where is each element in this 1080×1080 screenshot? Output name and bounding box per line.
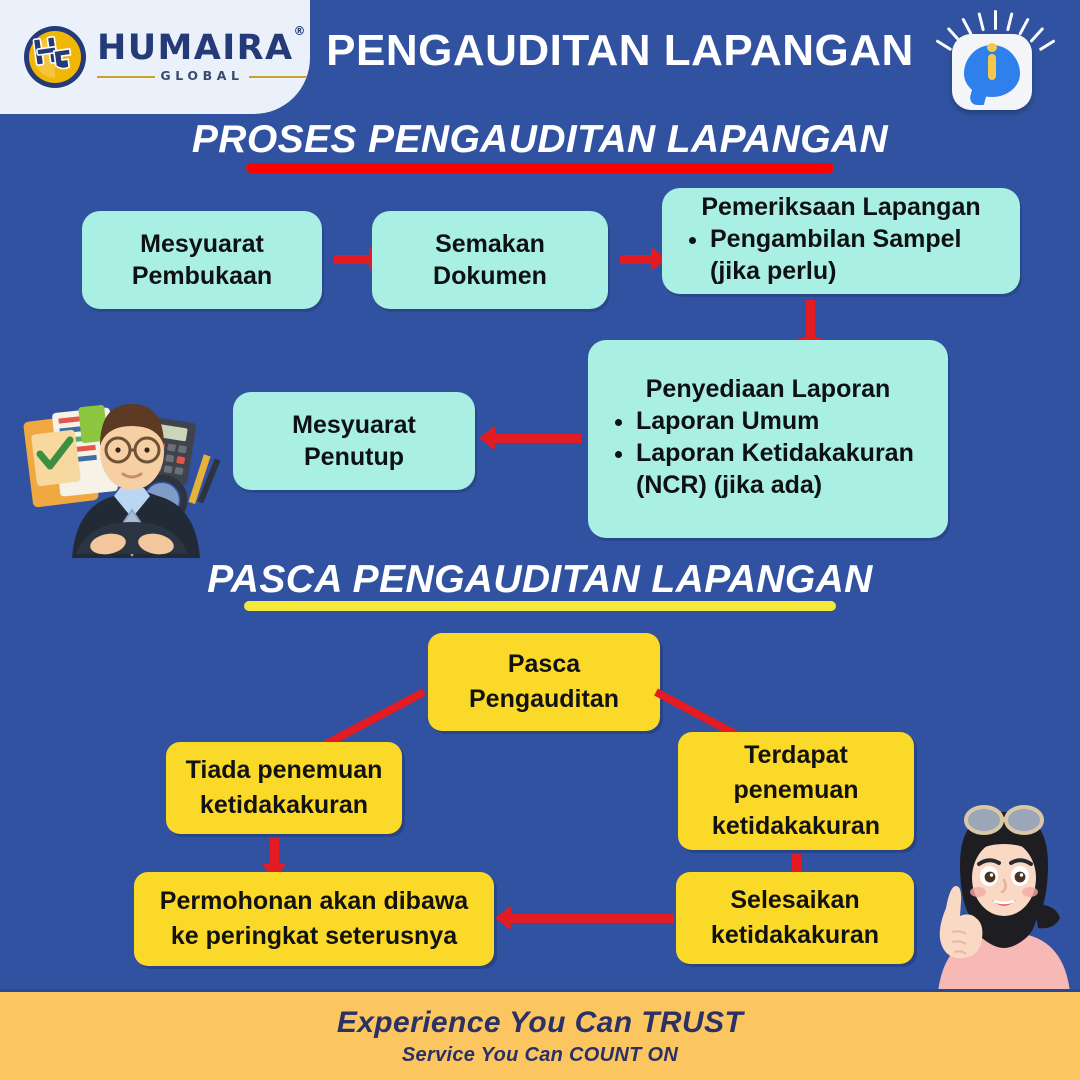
- box-bullet: Laporan Umum: [636, 405, 934, 437]
- flow-box-mesyuarat-pembukaan[interactable]: Mesyuarat Pembukaan: [82, 211, 322, 309]
- brand-wordmark: HUMAIRA® GLOBAL: [97, 31, 307, 83]
- box-line: Selesaikan: [688, 883, 902, 919]
- section-rule-pasca: [244, 601, 836, 611]
- page-title: PENGAUDITAN LAPANGAN: [320, 26, 920, 76]
- box-line: ketidakakuran: [688, 918, 902, 954]
- section-heading-pasca: PASCA PENGAUDITAN LAPANGAN: [0, 558, 1080, 602]
- footer-tagline-primary: Experience You Can TRUST: [337, 1006, 743, 1040]
- box-line: Mesyuarat: [247, 409, 461, 441]
- logo-rule-left: [97, 76, 155, 78]
- hg-monogram-icon: [22, 24, 88, 90]
- box-heading: Pemeriksaan Lapangan: [676, 191, 1006, 223]
- information-icon: [944, 12, 1048, 112]
- box-line: Penutup: [247, 441, 461, 473]
- registered-trademark-icon: ®: [294, 24, 307, 38]
- box-line: Semakan: [386, 228, 594, 260]
- info-letter-dot: [987, 43, 997, 52]
- infographic-canvas: HUMAIRA® GLOBAL PENGAUDITAN LAPANGAN: [0, 0, 1080, 1080]
- box-line: penemuan: [690, 773, 902, 809]
- arrow-selesaikan-to-permohonan: [510, 914, 674, 923]
- info-letter-stem: [988, 54, 996, 80]
- box-bullet: Laporan Ketidakakuran (NCR) (jika ada): [636, 437, 934, 501]
- brand-logo: HUMAIRA® GLOBAL: [22, 24, 307, 90]
- box-line: Dokumen: [386, 260, 594, 292]
- flow-box-pasca-pengauditan[interactable]: Pasca Pengauditan: [428, 633, 660, 731]
- box-heading: Penyediaan Laporan: [602, 373, 934, 405]
- flow-box-semakan-dokumen[interactable]: Semakan Dokumen: [372, 211, 608, 309]
- footer-tagline-secondary: Service You Can COUNT ON: [402, 1044, 678, 1067]
- section-heading-proses: PROSES PENGAUDITAN LAPANGAN: [0, 118, 1080, 162]
- box-line: ketidakakuran: [178, 788, 390, 824]
- box-line: Permohonan akan dibawa: [146, 884, 482, 920]
- logo-rule-right: [249, 76, 307, 78]
- flow-box-mesyuarat-penutup[interactable]: Mesyuarat Penutup: [233, 392, 475, 490]
- flow-box-tiada-penemuan[interactable]: Tiada penemuan ketidakakuran: [166, 742, 402, 834]
- brand-logo-plate: HUMAIRA® GLOBAL: [0, 0, 310, 114]
- box-line: Pembukaan: [96, 260, 308, 292]
- flow-box-permohonan-dibawa[interactable]: Permohonan akan dibawa ke peringkat sete…: [134, 872, 494, 966]
- arrow-semakan-to-pemeriksaan: [620, 255, 652, 264]
- box-line: Mesyuarat: [96, 228, 308, 260]
- box-line: Terdapat: [690, 738, 902, 774]
- box-line: ketidakakuran: [690, 809, 902, 845]
- arrow-tiada-to-permohonan: [270, 838, 279, 866]
- flow-box-selesaikan-ketidakakuran[interactable]: Selesaikan ketidakakuran: [676, 872, 914, 964]
- male-auditor-illustration: [10, 358, 240, 558]
- box-bullet: Pengambilan Sampel (jika perlu): [710, 223, 1006, 287]
- flow-box-penyediaan-laporan[interactable]: Penyediaan Laporan Laporan Umum Laporan …: [588, 340, 948, 538]
- arrow-laporan-to-penutup: [494, 434, 582, 443]
- header-bar: HUMAIRA® GLOBAL PENGAUDITAN LAPANGAN: [0, 0, 1080, 114]
- arrow-pembukaan-to-semakan: [334, 255, 370, 264]
- footer-band: Experience You Can TRUST Service You Can…: [0, 989, 1080, 1080]
- brand-name: HUMAIRA®: [97, 31, 307, 66]
- flow-box-pemeriksaan-lapangan[interactable]: Pemeriksaan Lapangan Pengambilan Sampel …: [662, 188, 1020, 294]
- arrow-pemeriksaan-to-laporan: [806, 300, 815, 340]
- section-rule-proses: [246, 163, 834, 173]
- box-line: Tiada penemuan: [178, 753, 390, 789]
- box-bullet-list: Laporan Umum Laporan Ketidakakuran (NCR)…: [602, 405, 934, 501]
- brand-name-text: HUMAIRA: [97, 28, 294, 68]
- box-bullet-list: Pengambilan Sampel (jika perlu): [676, 223, 1006, 287]
- hijab-woman-pointing-illustration: [922, 800, 1080, 992]
- box-line: Pengauditan: [440, 682, 648, 718]
- flow-box-terdapat-penemuan[interactable]: Terdapat penemuan ketidakakuran: [678, 732, 914, 850]
- brand-tagline: GLOBAL: [160, 70, 243, 83]
- box-line: Pasca: [440, 647, 648, 683]
- box-line: ke peringkat seterusnya: [146, 919, 482, 955]
